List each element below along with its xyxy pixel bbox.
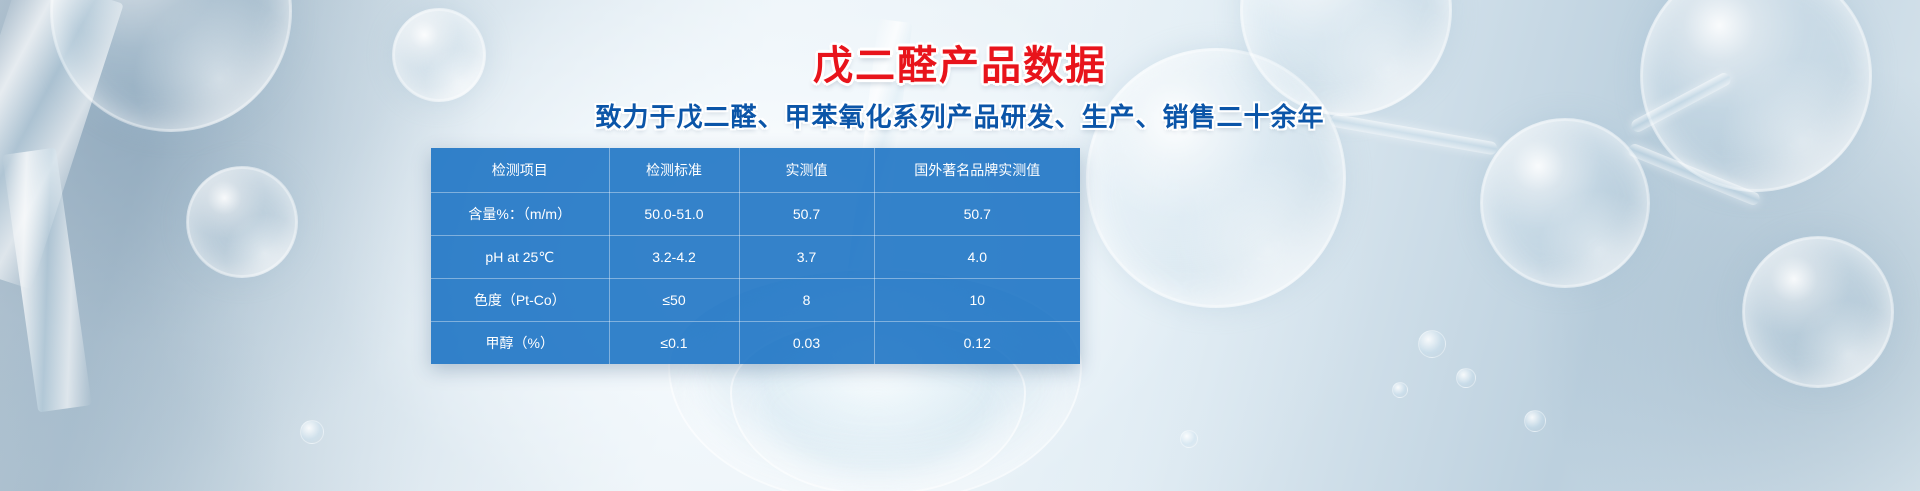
column-header-test-item: 检测项目 bbox=[431, 148, 609, 193]
cell-foreign-brand-value: 50.7 bbox=[874, 193, 1080, 236]
column-header-measured-value: 实测值 bbox=[739, 148, 874, 193]
page-subtitle: 致力于戊二醛、甲苯氧化系列产品研发、生产、销售二十余年 bbox=[0, 102, 1920, 133]
cell-test-standard: 50.0-51.0 bbox=[609, 193, 739, 236]
cell-test-item: 含量%：（m/m） bbox=[431, 193, 609, 236]
cell-measured-value: 50.7 bbox=[739, 193, 874, 236]
product-spec-table: 检测项目 检测标准 实测值 国外著名品牌实测值 含量%：（m/m） 50.0-5… bbox=[431, 148, 1080, 364]
cell-measured-value: 8 bbox=[739, 279, 874, 322]
table-row: 含量%：（m/m） 50.0-51.0 50.7 50.7 bbox=[431, 193, 1080, 236]
cell-test-standard: ≤0.1 bbox=[609, 322, 739, 365]
table-row: 色度（Pt-Co） ≤50 8 10 bbox=[431, 279, 1080, 322]
cell-test-standard: ≤50 bbox=[609, 279, 739, 322]
molecule-bubble-left-mid bbox=[186, 166, 298, 278]
cell-test-standard: 3.2-4.2 bbox=[609, 236, 739, 279]
product-spec-table-wrapper: 检测项目 检测标准 实测值 国外著名品牌实测值 含量%：（m/m） 50.0-5… bbox=[431, 148, 1080, 364]
column-header-test-standard: 检测标准 bbox=[609, 148, 739, 193]
cell-test-item: 甲醇（%） bbox=[431, 322, 609, 365]
table-row: pH at 25℃ 3.2-4.2 3.7 4.0 bbox=[431, 236, 1080, 279]
cell-measured-value: 0.03 bbox=[739, 322, 874, 365]
bokeh-dot-2 bbox=[1456, 368, 1476, 388]
bokeh-dot-5 bbox=[300, 420, 324, 444]
table-body: 含量%：（m/m） 50.0-51.0 50.7 50.7 pH at 25℃ … bbox=[431, 193, 1080, 365]
bokeh-dot-4 bbox=[1524, 410, 1546, 432]
molecule-bubble-right-mid bbox=[1480, 118, 1650, 288]
cell-foreign-brand-value: 0.12 bbox=[874, 322, 1080, 365]
page-title: 戊二醛产品数据 bbox=[0, 44, 1920, 90]
bokeh-dot-1 bbox=[1418, 330, 1446, 358]
cell-foreign-brand-value: 4.0 bbox=[874, 236, 1080, 279]
cell-foreign-brand-value: 10 bbox=[874, 279, 1080, 322]
cell-test-item: 色度（Pt-Co） bbox=[431, 279, 609, 322]
table-header-row: 检测项目 检测标准 实测值 国外著名品牌实测值 bbox=[431, 148, 1080, 193]
bokeh-dot-3 bbox=[1392, 382, 1408, 398]
product-data-banner: 戊二醛产品数据 致力于戊二醛、甲苯氧化系列产品研发、生产、销售二十余年 检测项目… bbox=[0, 0, 1920, 491]
cell-test-item: pH at 25℃ bbox=[431, 236, 609, 279]
table-header: 检测项目 检测标准 实测值 国外著名品牌实测值 bbox=[431, 148, 1080, 193]
molecule-bubble-right-low bbox=[1742, 236, 1894, 388]
banner-heading-block: 戊二醛产品数据 致力于戊二醛、甲苯氧化系列产品研发、生产、销售二十余年 bbox=[0, 44, 1920, 133]
cell-measured-value: 3.7 bbox=[739, 236, 874, 279]
bokeh-dot-6 bbox=[1180, 430, 1198, 448]
column-header-foreign-brand-measured-value: 国外著名品牌实测值 bbox=[874, 148, 1080, 193]
table-row: 甲醇（%） ≤0.1 0.03 0.12 bbox=[431, 322, 1080, 365]
